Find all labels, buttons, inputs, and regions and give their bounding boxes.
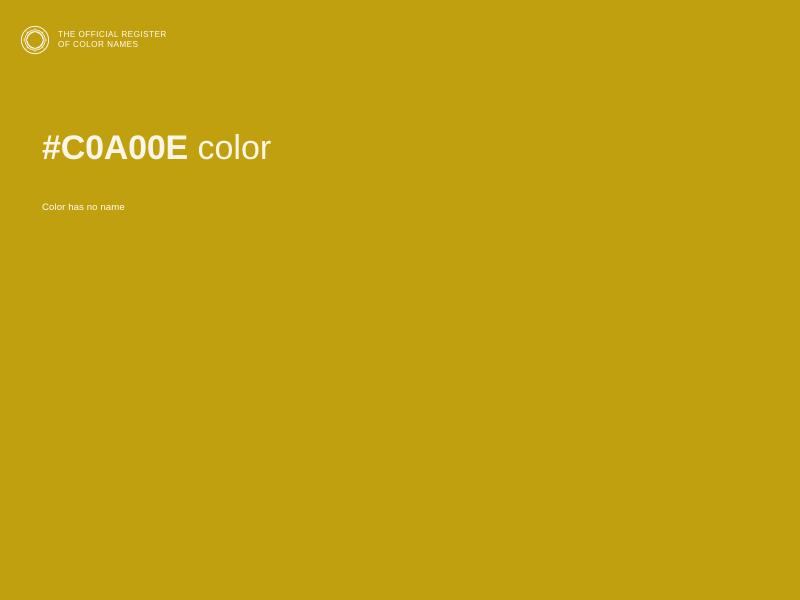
brand-line-1: THE OFFICIAL REGISTER bbox=[58, 30, 167, 40]
page-title-suffix: color bbox=[188, 129, 271, 167]
brand-wordmark: THE OFFICIAL REGISTER OF COLOR NAMES bbox=[58, 30, 167, 49]
color-hex-value: #C0A00E bbox=[42, 129, 188, 167]
brand-header[interactable]: THE OFFICIAL REGISTER OF COLOR NAMES bbox=[20, 25, 167, 55]
color-name-status: Color has no name bbox=[42, 170, 760, 215]
page-title: #C0A00E color bbox=[42, 126, 760, 170]
brand-line-2: OF COLOR NAMES bbox=[58, 40, 167, 50]
color-swatch-background bbox=[0, 0, 800, 600]
register-seal-icon bbox=[20, 25, 50, 55]
color-page: THE OFFICIAL REGISTER OF COLOR NAMES #C0… bbox=[0, 0, 800, 600]
color-info-block: #C0A00E color Color has no name bbox=[42, 126, 760, 215]
